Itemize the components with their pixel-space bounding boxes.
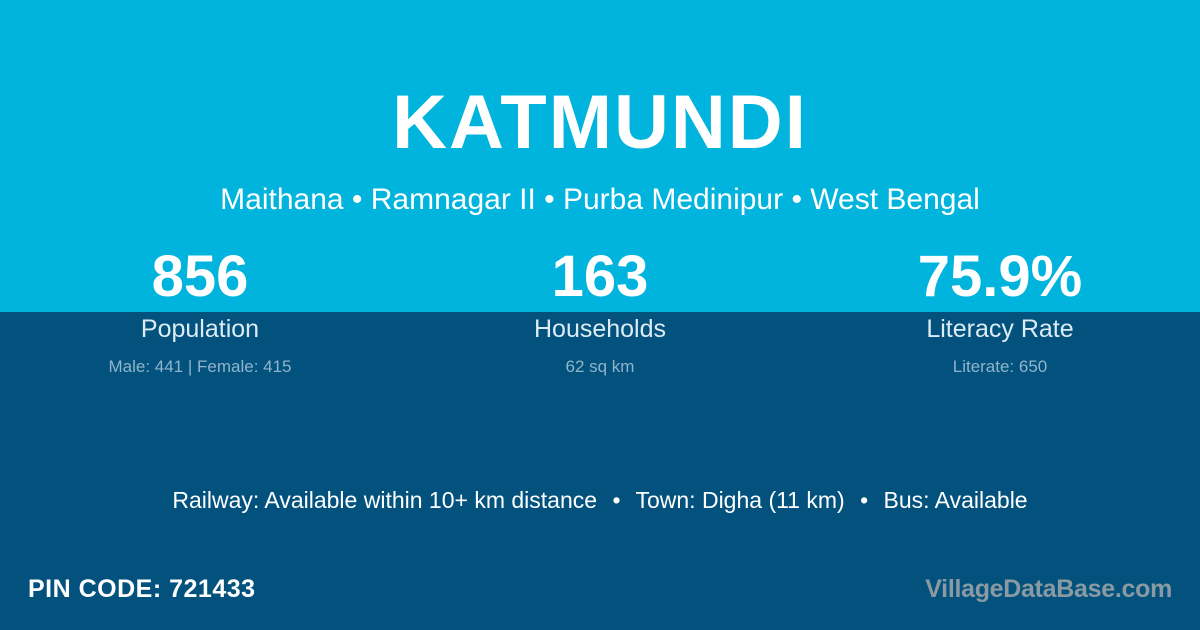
stat-population: 856 Population Male: 441 | Female: 415 [0, 246, 400, 379]
village-info-card: KATMUNDI Maithana • Ramnagar II • Purba … [0, 0, 1200, 630]
stat-literacy-rate: 75.9% Literacy Rate Literate: 650 [800, 246, 1200, 379]
transport-separator-1: • [603, 484, 629, 516]
transport-railway: Railway: Available within 10+ km distanc… [172, 487, 597, 513]
transport-bus: Bus: Available [884, 487, 1028, 513]
breadcrumb: Maithana • Ramnagar II • Purba Medinipur… [0, 185, 1200, 215]
pin-code: PIN CODE: 721433 [28, 572, 256, 606]
stats-row: 856 Population Male: 441 | Female: 415 1… [0, 246, 1200, 379]
stat-households-label: Households [400, 312, 800, 346]
stat-population-detail: Male: 441 | Female: 415 [0, 355, 400, 379]
card-footer: PIN CODE: 721433 VillageDataBase.com [0, 572, 1200, 614]
stat-households: 163 Households 62 sq km [400, 246, 800, 379]
site-watermark: VillageDataBase.com [925, 572, 1172, 606]
stat-households-detail: 62 sq km [400, 355, 800, 379]
stat-literacy-rate-value: 75.9% [800, 246, 1200, 308]
transport-info: Railway: Available within 10+ km distanc… [0, 484, 1200, 516]
stat-population-label: Population [0, 312, 400, 346]
transport-town: Town: Digha (11 km) [635, 487, 844, 513]
transport-separator-2: • [851, 484, 877, 516]
stat-households-value: 163 [400, 246, 800, 308]
stat-literacy-rate-detail: Literate: 650 [800, 355, 1200, 379]
stat-population-value: 856 [0, 246, 400, 308]
page-title: KATMUNDI [0, 85, 1200, 161]
stat-literacy-rate-label: Literacy Rate [800, 312, 1200, 346]
